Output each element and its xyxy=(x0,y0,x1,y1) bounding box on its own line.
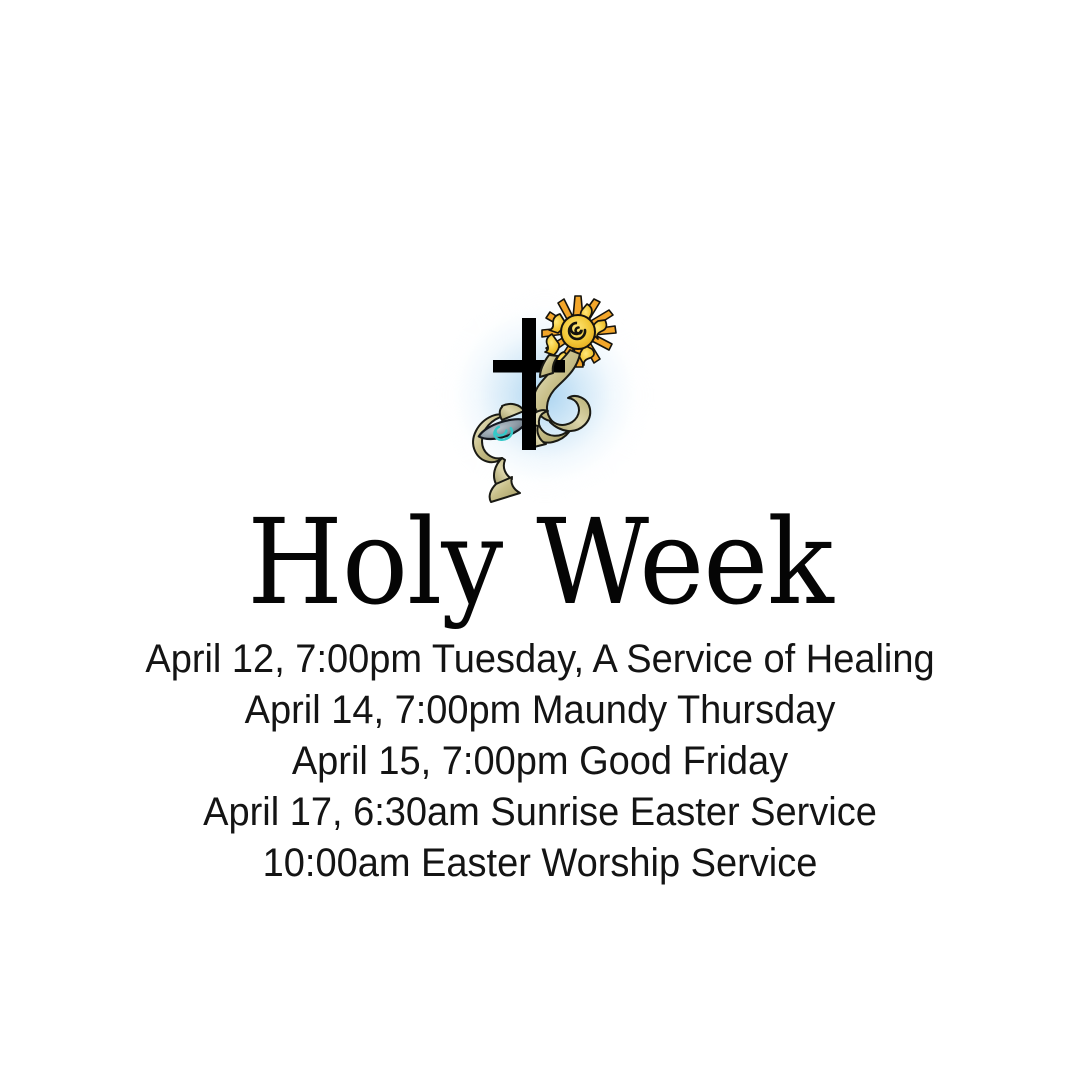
schedule-list: April 12, 7:00pm Tuesday, A Service of H… xyxy=(0,634,1080,889)
schedule-line: April 17, 6:30am Sunrise Easter Service xyxy=(27,787,1053,838)
schedule-line: 10:00am Easter Worship Service xyxy=(27,838,1053,889)
emblem-container xyxy=(430,280,660,520)
holy-week-poster: Holy Week April 12, 7:00pm Tuesday, A Se… xyxy=(0,0,1080,1080)
cross-sun-moon-icon xyxy=(430,280,660,520)
page-title: Holy Week xyxy=(38,503,1042,621)
schedule-line: April 14, 7:00pm Maundy Thursday xyxy=(27,685,1053,736)
schedule-line: April 12, 7:00pm Tuesday, A Service of H… xyxy=(27,634,1053,685)
schedule-line: April 15, 7:00pm Good Friday xyxy=(27,736,1053,787)
